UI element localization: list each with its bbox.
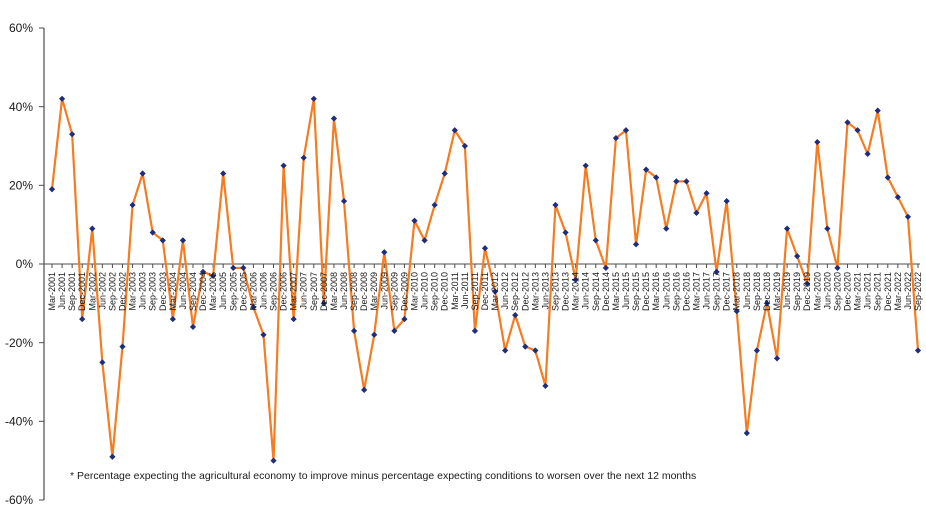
data-point-marker (532, 347, 538, 353)
data-point-marker (442, 170, 448, 176)
data-point-marker (774, 355, 780, 361)
x-tick-label: Jun-2006 (258, 272, 268, 310)
x-tick-label: Dec-2007 (319, 272, 329, 311)
x-tick-label: Dec-2009 (399, 272, 409, 311)
data-point-marker (180, 237, 186, 243)
data-point-marker (542, 383, 548, 389)
x-tick-label: Sep-2021 (873, 272, 883, 311)
x-tick-label: Dec-2013 (561, 272, 571, 311)
x-tick-label: Mar-2013 (530, 272, 540, 311)
data-point-marker (99, 359, 105, 365)
x-tick-label: Dec-2010 (440, 272, 450, 311)
data-point-marker (915, 347, 921, 353)
x-tick-label: Mar-2016 (651, 272, 661, 311)
x-tick-label: Dec-2012 (520, 272, 530, 311)
y-axis: 60%40%20%0%-20%-40%-60% (5, 21, 44, 507)
x-tick-label: Dec-2021 (883, 272, 893, 311)
x-tick-label: Sep-2007 (309, 272, 319, 311)
data-point-marker (875, 108, 881, 114)
x-tick-label: Jun-2022 (903, 272, 913, 310)
x-tick-label: Mar-2015 (611, 272, 621, 311)
x-tick-label: Sep-2004 (188, 272, 198, 311)
x-tick-label: Mar-2004 (168, 272, 178, 311)
data-point-marker (240, 265, 246, 271)
x-tick-labels: Mar-2001Jun-2001Sep-2001Dec-2001Mar-2002… (47, 272, 923, 311)
x-tick-label: Mar-2019 (772, 272, 782, 311)
data-point-marker (371, 332, 377, 338)
x-tick-label: Dec-2005 (238, 272, 248, 311)
y-tick-label: 60% (9, 21, 33, 35)
data-point-marker (724, 198, 730, 204)
x-tick-label: Jun-2004 (178, 272, 188, 310)
x-tick-label: Sep-2016 (671, 272, 681, 311)
x-tick-label: Dec-2015 (641, 272, 651, 311)
x-axis (52, 264, 918, 268)
x-tick-label: Sep-2022 (913, 272, 923, 311)
data-point-marker (663, 226, 669, 232)
footnote-text: * Percentage expecting the agricultural … (70, 470, 910, 482)
x-tick-label: Sep-2020 (832, 272, 842, 311)
x-tick-label: Dec-2004 (198, 272, 208, 311)
data-point-marker (311, 96, 317, 102)
x-tick-label: Dec-2016 (681, 272, 691, 311)
data-point-marker (784, 226, 790, 232)
data-point-marker (603, 265, 609, 271)
x-tick-label: Mar-2007 (289, 272, 299, 311)
data-point-marker (683, 178, 689, 184)
x-tick-label: Sep-2006 (269, 272, 279, 311)
data-point-marker (381, 249, 387, 255)
data-point-marker (129, 202, 135, 208)
data-point-marker (432, 202, 438, 208)
data-point-marker (361, 387, 367, 393)
data-point-marker (824, 226, 830, 232)
x-tick-label: Jun-2019 (782, 272, 792, 310)
x-tick-label: Mar-2018 (732, 272, 742, 311)
x-tick-label: Mar-2012 (490, 272, 500, 311)
x-tick-label: Sep-2013 (550, 272, 560, 311)
x-tick-label: Dec-2017 (722, 272, 732, 311)
data-point-marker (744, 430, 750, 436)
data-point-marker (79, 316, 85, 322)
data-point-marker (190, 324, 196, 330)
data-point-marker (794, 253, 800, 259)
x-tick-label: Mar-2010 (410, 272, 420, 311)
data-point-marker (814, 139, 820, 145)
x-tick-label: Jun-2010 (420, 272, 430, 310)
y-tick-label: -40% (5, 415, 33, 429)
x-tick-label: Sep-2010 (430, 272, 440, 311)
x-tick-label: Sep-2003 (148, 272, 158, 311)
y-tick-label: -60% (5, 493, 33, 507)
x-tick-label: Mar-2022 (893, 272, 903, 311)
data-point-marker (89, 226, 95, 232)
x-tick-label: Jun-2011 (460, 272, 470, 309)
x-tick-label: Sep-2015 (631, 272, 641, 311)
data-point-marker (331, 115, 337, 121)
x-tick-label: Jun-2018 (742, 272, 752, 310)
x-tick-label: Jun-2002 (97, 272, 107, 310)
x-tick-label: Dec-2002 (117, 272, 127, 311)
x-tick-label: Jun-2003 (138, 272, 148, 310)
x-tick-label: Sep-2012 (510, 272, 520, 311)
x-tick-label: Sep-2018 (752, 272, 762, 311)
x-tick-label: Sep-2017 (712, 272, 722, 311)
data-point-marker (140, 170, 146, 176)
data-point-marker (49, 186, 55, 192)
x-tick-label: Dec-2006 (279, 272, 289, 311)
x-tick-label: Mar-2006 (248, 272, 258, 311)
data-point-marker (270, 458, 276, 464)
y-tick-label: 20% (9, 179, 33, 193)
x-tick-label: Jun-2014 (581, 272, 591, 310)
x-tick-label: Jun-2012 (500, 272, 510, 310)
x-tick-label: Sep-2014 (591, 272, 601, 311)
x-tick-label: Mar-2003 (128, 272, 138, 311)
x-tick-label: Jun-2013 (540, 272, 550, 310)
x-tick-label: Dec-2018 (762, 272, 772, 311)
x-tick-label: Dec-2001 (77, 272, 87, 311)
data-point-marker (260, 332, 266, 338)
data-point-marker (834, 265, 840, 271)
x-tick-label: Mar-2002 (87, 272, 97, 311)
x-tick-label: Sep-2002 (107, 272, 117, 311)
x-tick-label: Jun-2021 (863, 272, 873, 310)
x-tick-label: Mar-2017 (691, 272, 701, 311)
x-tick-label: Jun-2016 (661, 272, 671, 310)
chart-footnote: * Percentage expecting the agricultural … (70, 470, 910, 482)
x-tick-label: Dec-2014 (601, 272, 611, 311)
x-tick-label: Sep-2008 (349, 272, 359, 311)
data-point-marker (170, 316, 176, 322)
y-tick-label: -20% (5, 336, 33, 350)
x-tick-label: Mar-2011 (450, 272, 460, 310)
data-point-marker (522, 344, 528, 350)
data-point-marker (583, 163, 589, 169)
x-tick-label: Mar-2020 (812, 272, 822, 311)
x-tick-label: Dec-2011 (480, 272, 490, 310)
data-point-marker (552, 202, 558, 208)
data-point-marker (593, 237, 599, 243)
y-tick-label: 40% (9, 100, 33, 114)
data-point-marker (351, 328, 357, 334)
x-tick-label: Jun-2008 (339, 272, 349, 310)
data-point-marker (291, 316, 297, 322)
x-tick-label: Jun-2015 (621, 272, 631, 310)
x-tick-label: Sep-2005 (228, 272, 238, 311)
x-tick-label: Mar-2021 (853, 272, 863, 311)
x-tick-label: Dec-2019 (802, 272, 812, 311)
data-point-marker (109, 454, 115, 460)
data-point-marker (865, 151, 871, 157)
data-point-marker (59, 96, 65, 102)
data-point-marker (341, 198, 347, 204)
chart-container: 60%40%20%0%-20%-40%-60% Mar-2001Jun-2001… (0, 0, 926, 518)
x-tick-label: Jun-2020 (822, 272, 832, 310)
x-tick-label: Sep-2019 (792, 272, 802, 311)
data-point-marker (281, 163, 287, 169)
x-tick-label: Dec-2020 (843, 272, 853, 311)
x-tick-label: Mar-2014 (571, 272, 581, 311)
x-tick-label: Mar-2001 (47, 272, 57, 311)
x-tick-label: Sep-2001 (67, 272, 77, 311)
x-tick-label: Mar-2008 (329, 272, 339, 311)
data-point-marker (633, 241, 639, 247)
y-tick-label: 0% (16, 257, 34, 271)
data-point-marker (220, 170, 226, 176)
x-tick-label: Jun-2009 (379, 272, 389, 310)
x-tick-label: Jun-2007 (299, 272, 309, 310)
x-tick-label: Mar-2009 (369, 272, 379, 311)
x-tick-label: Jun-2005 (218, 272, 228, 310)
data-point-marker (673, 178, 679, 184)
data-point-marker (502, 347, 508, 353)
data-point-marker (512, 312, 518, 318)
data-point-marker (230, 265, 236, 271)
x-tick-label: Sep-2011 (470, 272, 480, 310)
x-tick-label: Dec-2008 (359, 272, 369, 311)
x-tick-label: Jun-2017 (702, 272, 712, 310)
x-tick-label: Jun-2001 (57, 272, 67, 310)
line-chart: 60%40%20%0%-20%-40%-60% Mar-2001Jun-2001… (0, 0, 926, 518)
data-point-marker (301, 155, 307, 161)
data-point-marker (754, 347, 760, 353)
data-point-marker (69, 131, 75, 137)
data-point-marker (482, 245, 488, 251)
data-point-marker (119, 344, 125, 350)
x-tick-label: Sep-2009 (389, 272, 399, 311)
data-point-marker (562, 229, 568, 235)
x-tick-label: Mar-2005 (208, 272, 218, 311)
data-point-marker (472, 328, 478, 334)
x-tick-label: Dec-2003 (158, 272, 168, 311)
